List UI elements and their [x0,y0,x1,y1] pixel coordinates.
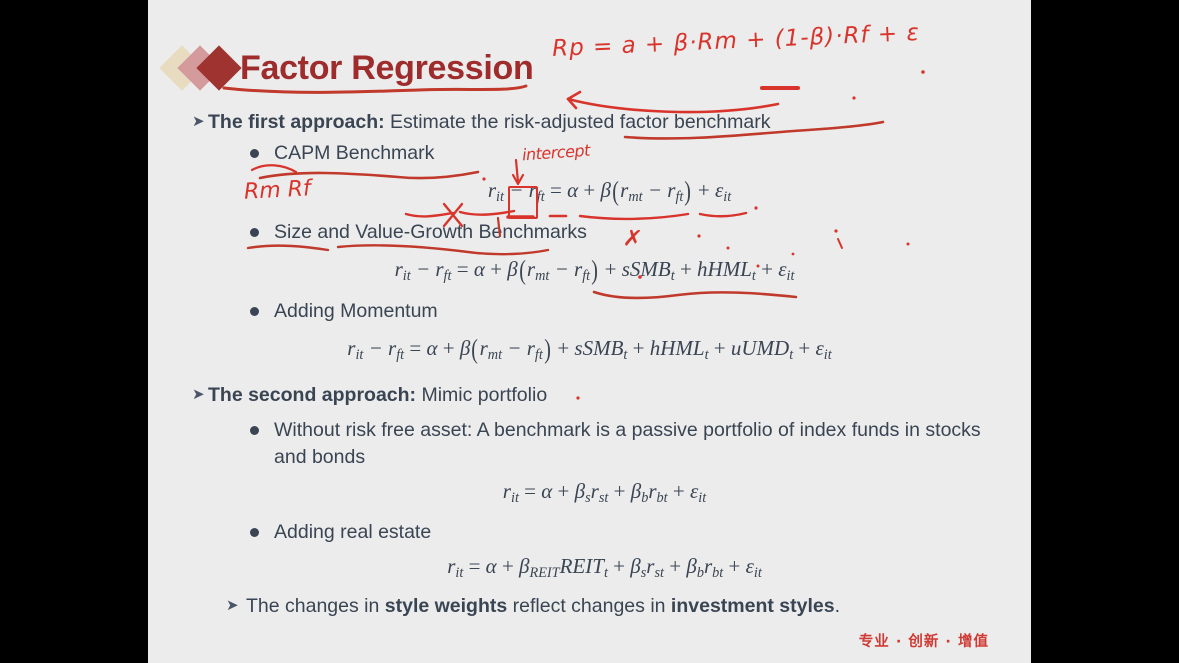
conclusion-bold-style-weights: style weights [385,595,507,617]
round-bullet-icon [250,149,259,158]
presentation-slide: Factor Regression ➤ The first approach: … [148,0,1031,663]
bullet-second-approach: ➤ The second approach: Mimic portfolio [148,381,1031,409]
ink-speck [921,70,925,74]
bullet-capm-benchmark: CAPM Benchmark [148,140,1031,167]
equation-capm: rit − rft = α + β(rmt − rft) + εit [188,175,1031,207]
bullet-style-weights-conclusion: ➤ The changes in style weights reflect c… [148,592,1031,620]
arrow-bullet-icon: ➤ [192,109,205,135]
diamond-logo-icon [166,45,244,91]
bullet-adding-momentum: Adding Momentum [148,298,1031,325]
handwritten-top-formula: Rp = a + β·Rm + (1-β)·Rf + ε [552,20,921,62]
equation-four-factor: rit − rft = α + β(rmt − rft) + sSMBt + h… [148,333,1031,365]
equation-three-factor: rit − rft = α + β(rmt − rft) + sSMBt + h… [158,254,1031,286]
page-title: Factor Regression [240,49,533,88]
size-value-growth-label: Size and Value-Growth Benchmarks [274,221,587,243]
conclusion-post: . [835,595,840,617]
capm-benchmark-label: CAPM Benchmark [274,142,434,164]
round-bullet-icon [250,528,259,537]
letterbox-left [0,0,148,663]
second-approach-lead: The second approach: [208,384,416,406]
round-bullet-icon [250,228,259,237]
first-approach-rest: Estimate the risk-adjusted factor benchm… [385,111,771,133]
conclusion-pre: The changes in [246,595,385,617]
conclusion-bold-investment-styles: investment styles [671,595,835,617]
round-bullet-icon [250,426,259,435]
adding-momentum-label: Adding Momentum [274,300,438,322]
bullet-adding-real-estate: Adding real estate [148,519,1031,546]
slide-body: ➤ The first approach: Estimate the risk-… [148,108,1031,620]
adding-real-estate-label: Adding real estate [274,521,431,543]
equation-stock-bond: rit = α + βsrst + βbrbt + εit [178,479,1031,507]
first-approach-lead: The first approach: [208,111,385,133]
arrow-bullet-icon: ➤ [226,592,239,620]
arrow-bullet-icon: ➤ [192,382,205,408]
arrowhead-icon [568,92,580,108]
without-risk-free-asset-label: Without risk free asset: A benchmark is … [274,419,981,468]
round-bullet-icon [250,307,259,316]
second-approach-rest: Mimic portfolio [416,384,547,406]
slide-title-row: Factor Regression [166,40,533,96]
conclusion-mid: reflect changes in [507,595,671,617]
slide-footer-slogan: 专业 · 创新 · 增值 [859,630,989,651]
bullet-first-approach: ➤ The first approach: Estimate the risk-… [148,108,1031,136]
equation-reit: rit = α + βREITREITt + βsrst + βbrbt + ε… [178,554,1031,582]
bullet-without-risk-free-asset: Without risk free asset: A benchmark is … [148,417,1031,471]
ink-speck [852,96,855,99]
letterbox-right [1031,0,1179,663]
bullet-size-value-growth: Size and Value-Growth Benchmarks [148,219,1031,246]
